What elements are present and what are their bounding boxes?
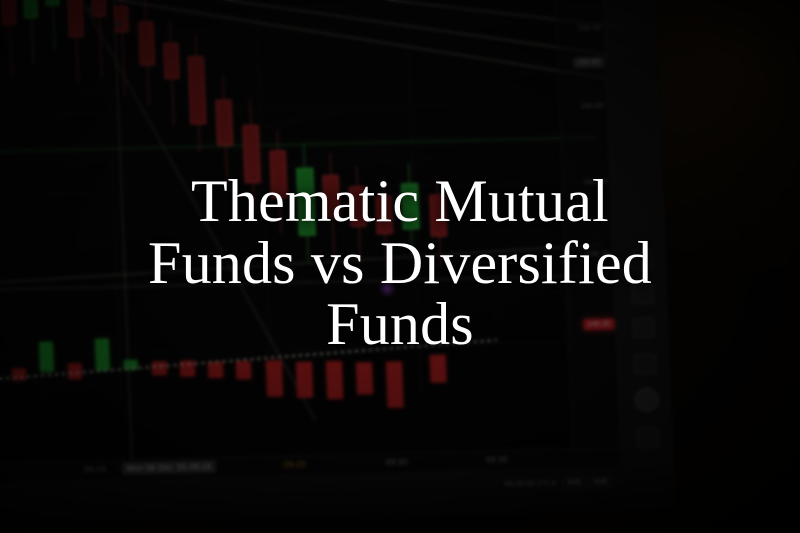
candlestick[interactable] — [348, 166, 368, 262]
macd-bar — [12, 368, 26, 380]
live-price-badge: 148.35 — [583, 318, 615, 330]
macd-bar — [39, 342, 54, 372]
note-icon[interactable] — [632, 318, 655, 339]
candlestick[interactable] — [187, 34, 208, 152]
candlestick[interactable] — [66, 0, 86, 83]
time-tick-active: 09:25 — [284, 460, 306, 470]
candlestick[interactable] — [162, 19, 181, 125]
macd-bar — [95, 338, 110, 370]
macd-bar — [356, 362, 373, 394]
candlestick[interactable] — [113, 0, 131, 96]
price-scale-tick: 136.20 — [586, 251, 609, 259]
time-tick: 09:35 — [486, 455, 508, 465]
status-chip[interactable]: BSE — [563, 477, 587, 489]
candlestick[interactable] — [295, 144, 317, 262]
more-icon[interactable] — [637, 427, 660, 448]
candlestick[interactable] — [22, 0, 40, 64]
candlestick[interactable] — [269, 130, 289, 234]
price-scale-tag: 150.60 — [573, 57, 605, 69]
settings-icon[interactable] — [634, 354, 657, 375]
candlestick[interactable] — [400, 163, 421, 259]
screenshot-canvas: 160.20 155.40 150.60 145.80 141.00 136.2… — [0, 0, 800, 533]
macd-bar — [152, 361, 168, 375]
cursor-time-tag: Mon 08 Dec '25 09:19 — [122, 460, 217, 475]
panel-separator — [0, 275, 603, 291]
moving-average-line — [104, 0, 622, 28]
macd-bar — [386, 362, 404, 408]
candlestick[interactable] — [0, 0, 18, 77]
macd-bar — [326, 361, 343, 399]
watchlist-icon[interactable] — [631, 284, 654, 305]
alert-icon[interactable] — [630, 250, 653, 271]
chart-marker-icon[interactable] — [379, 280, 397, 297]
price-scale-tick: 145.80 — [581, 103, 604, 111]
trading-screen: 160.20 155.40 150.60 145.80 141.00 136.2… — [0, 0, 676, 526]
candlestick[interactable] — [90, 0, 108, 77]
profile-icon[interactable] — [634, 387, 659, 412]
price-scale-tick: 155.40 — [578, 25, 601, 33]
status-chip[interactable]: NSE — [589, 477, 614, 489]
macd-bar — [208, 362, 224, 378]
candlestick[interactable] — [322, 153, 342, 257]
time-tick: 09:15 — [84, 465, 106, 475]
candle-price-tag — [86, 7, 94, 11]
macd-bar — [430, 354, 447, 382]
status-reading: 09:25:00 171.4 — [505, 480, 556, 488]
candle-price-tag — [114, 22, 122, 26]
candlestick[interactable] — [215, 76, 235, 184]
time-tick: 09:30 — [386, 457, 408, 467]
chart-area[interactable] — [0, 0, 610, 466]
monitor-panel: 160.20 155.40 150.60 145.80 141.00 136.2… — [0, 0, 676, 526]
macd-bar — [236, 361, 252, 379]
candlestick[interactable] — [44, 0, 61, 50]
candlestick[interactable] — [137, 0, 156, 106]
candlestick[interactable] — [429, 178, 448, 266]
macd-bar — [296, 362, 313, 398]
moving-average-line — [110, 0, 605, 79]
price-scale-tick: 141.00 — [584, 179, 607, 187]
gridline-h — [0, 101, 596, 117]
candlestick[interactable] — [375, 178, 395, 270]
candlestick[interactable] — [241, 99, 262, 215]
macd-bar — [266, 360, 283, 396]
